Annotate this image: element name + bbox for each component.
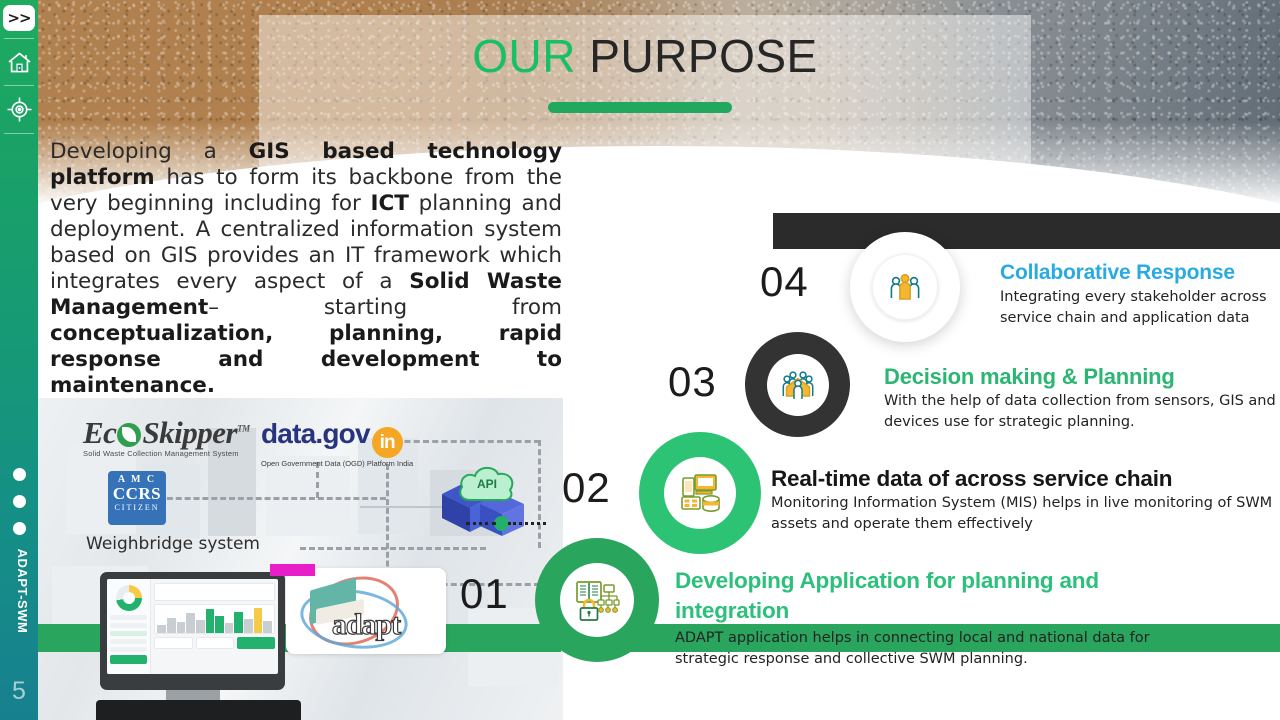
item-number: 02: [562, 464, 611, 512]
datagov-in-badge: in: [372, 427, 403, 458]
sidebar-divider-2: [4, 85, 34, 86]
datagov-tagline: Open Government Data (OGD) Platform Indi…: [261, 459, 413, 468]
decor-magenta-tab: [270, 564, 315, 576]
datagov-wordmark: data.govin: [261, 418, 413, 458]
page-title-rest: PURPOSE: [576, 30, 818, 82]
ecoskipper-wordmark: EcSkipperTM: [83, 415, 250, 451]
slide-canvas: OUR PURPOSE Developing a GIS based techn…: [38, 0, 1280, 720]
item-icon-ring[interactable]: [850, 232, 960, 342]
target-icon[interactable]: [0, 87, 38, 131]
amc-line-2: CCRS: [108, 485, 166, 503]
item-text-block: Collaborative Response Integrating every…: [1000, 260, 1280, 329]
datagov-logo: data.govin Open Government Data (OGD) Pl…: [261, 418, 413, 468]
item-body: Integrating every stakeholder across ser…: [1000, 287, 1280, 329]
city-block: [266, 456, 350, 536]
dashboard-row: [110, 615, 147, 620]
item-heading: Collaborative Response: [1000, 260, 1280, 285]
connector-line: [158, 497, 386, 500]
dashboard-sidebar: [107, 579, 151, 674]
sidebar-divider-3: [4, 133, 34, 134]
item-number: 03: [668, 358, 717, 406]
connector-line: [386, 464, 389, 584]
page-number: 5: [0, 677, 38, 706]
dashboard-card: [154, 583, 275, 601]
item-heading: Real-time data of across service chain: [771, 466, 1280, 491]
adapt-wordmark: adapt: [286, 608, 446, 642]
item-body: Monitoring Information System (MIS) help…: [771, 493, 1280, 535]
item-number: 01: [460, 570, 509, 618]
item-heading: Decision making & Planning: [884, 364, 1280, 389]
item-icon-ring[interactable]: [639, 432, 761, 554]
body-paragraph: Developing a GIS based technology platfo…: [50, 139, 562, 399]
connector-dotted: [466, 522, 496, 525]
page-title-accent: OUR: [472, 30, 576, 82]
sidebar-divider-1: [4, 38, 34, 39]
page-title: OUR PURPOSE: [259, 29, 1031, 83]
leaf-icon: [117, 423, 141, 447]
community-house-icon: [767, 354, 829, 416]
connector-line: [538, 440, 541, 548]
progress-dot[interactable]: [13, 468, 26, 481]
progress-dot[interactable]: [13, 495, 26, 508]
item-body: ADAPT application helps in connecting lo…: [675, 628, 1195, 670]
item-text-block: Decision making & Planning With the help…: [884, 364, 1280, 433]
dashboard-row: [110, 623, 147, 628]
api-node-dot: [494, 516, 509, 531]
dashboard-main: [151, 579, 278, 674]
book-lock-network-icon: [560, 563, 634, 637]
dashboard-row: [110, 647, 147, 652]
item-text-block: Developing Application for planning and …: [675, 566, 1195, 670]
item-number: 04: [760, 258, 809, 306]
item-icon-ring[interactable]: [535, 538, 659, 662]
sidebar-expand-button[interactable]: >>: [3, 5, 35, 31]
amc-line-3: CITIZEN: [108, 503, 166, 512]
devices-database-icon: [664, 457, 736, 529]
decor-dark-band: [773, 213, 1280, 249]
connector-dotted: [508, 522, 546, 525]
api-cloud-icon: API: [456, 460, 518, 504]
dashboard-donut-chart: [116, 585, 142, 611]
dashboard-bar-chart: [154, 604, 275, 634]
item-body: With the help of data collection from se…: [884, 391, 1280, 433]
dashboard-monitor: [100, 572, 285, 690]
keyboard: [96, 700, 301, 720]
home-icon[interactable]: [0, 40, 38, 84]
app-sidebar: >> ADAPT-SWM 5: [0, 0, 38, 720]
dashboard-row: [110, 631, 147, 636]
adapt-logo-card: adapt: [286, 568, 446, 654]
item-text-block: Real-time data of across service chain M…: [771, 466, 1280, 535]
weighbridge-label: Weighbridge system: [86, 534, 260, 554]
item-icon-ring[interactable]: [745, 332, 850, 437]
sidebar-expand-label: >>: [7, 9, 30, 27]
deck-title: ADAPT-SWM: [3, 521, 41, 661]
amc-ccrs-logo: A M C CCRS CITIZEN: [108, 471, 166, 525]
dashboard-cta: [110, 655, 147, 664]
item-heading: Developing Application for planning and …: [675, 566, 1195, 626]
ecoskipper-logo: EcSkipperTM Solid Waste Collection Manag…: [83, 415, 250, 458]
dashboard-row: [110, 639, 147, 644]
ecoskipper-tagline: Solid Waste Collection Management System: [83, 449, 250, 458]
monitor-screen: [107, 579, 278, 674]
api-label: API: [456, 460, 518, 504]
title-underline-rule: [548, 102, 732, 113]
people-group-icon: [872, 254, 938, 320]
